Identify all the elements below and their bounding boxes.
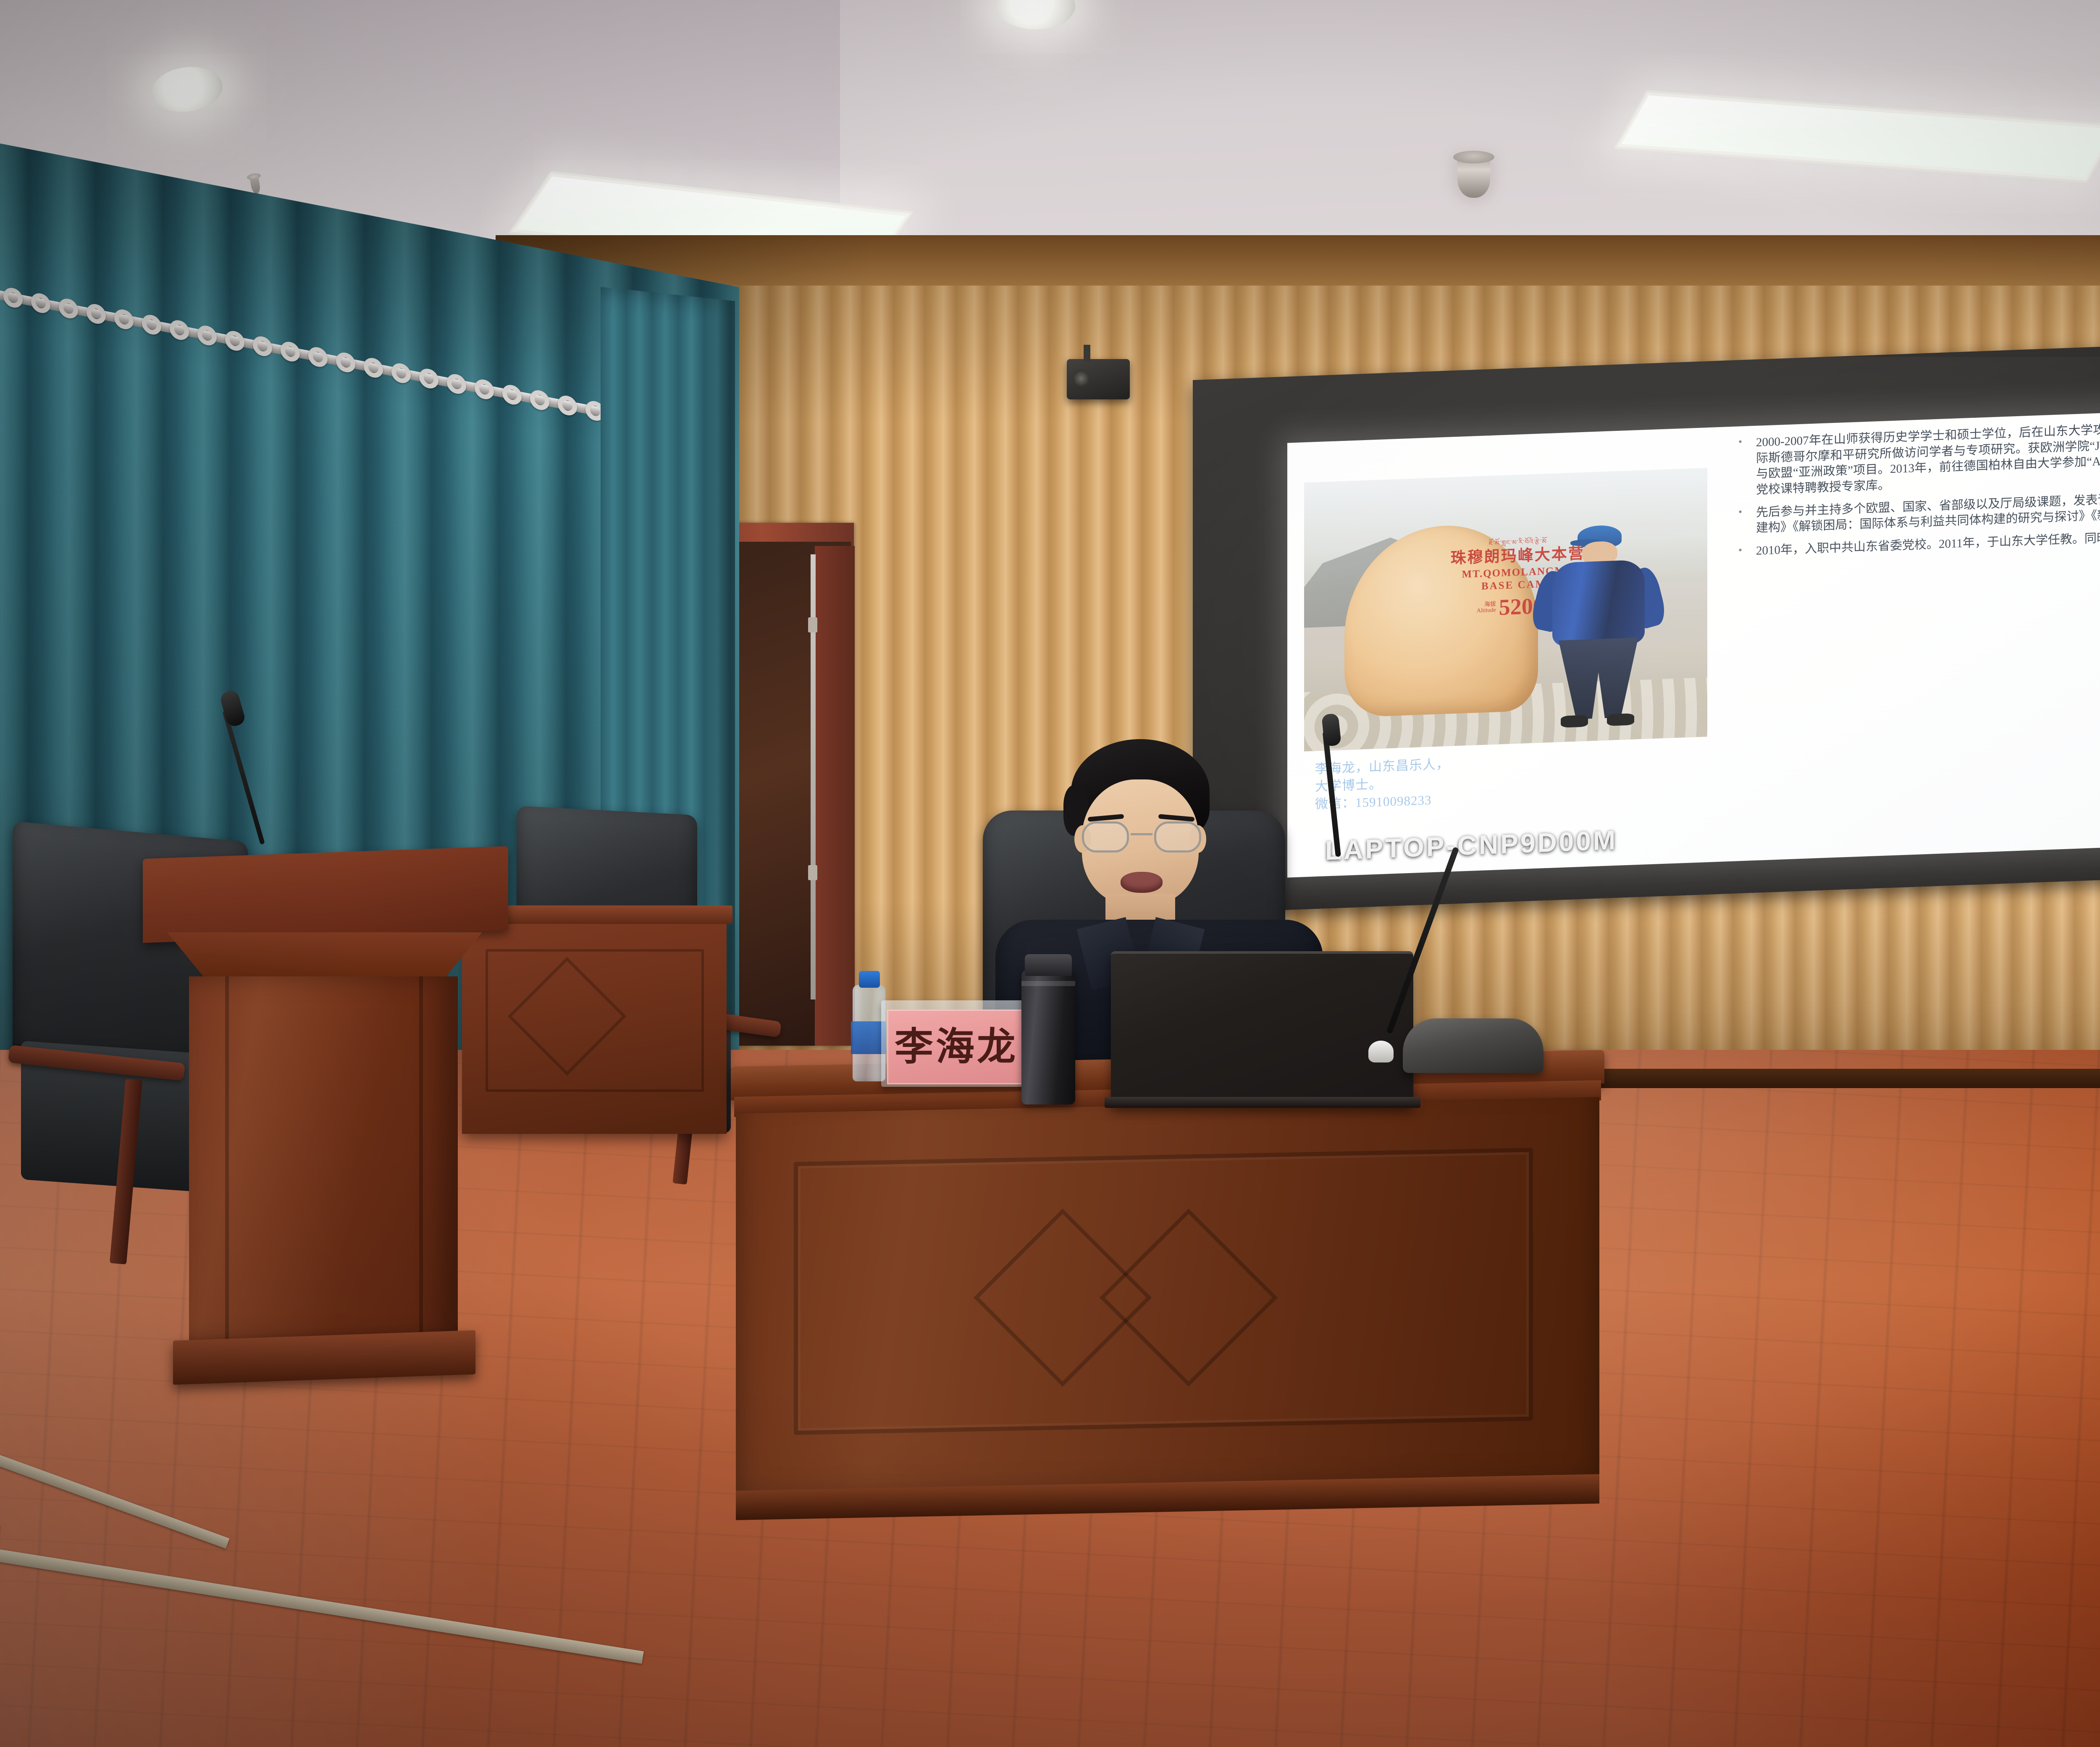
curtain-grommet-icon bbox=[170, 319, 189, 342]
curtain-grommet-icon bbox=[87, 302, 106, 325]
projector-lens-icon bbox=[1073, 370, 1089, 387]
ceiling-projector-icon bbox=[1067, 359, 1130, 399]
thermos-ring bbox=[1021, 981, 1075, 986]
door-hinge-icon bbox=[808, 617, 817, 632]
curtain-grommet-icon bbox=[336, 351, 355, 374]
presentation-slide: ཇོ་མོ་གླང་མ་རི་བོའི་རྩེ་མོ 珠穆朗玛峰大本营 MT.Q… bbox=[1287, 394, 2100, 878]
thermos-lid[interactable] bbox=[1025, 954, 1072, 976]
curtain-grommet-icon bbox=[419, 367, 438, 390]
nameplate-text: 李海龙 bbox=[895, 1028, 1018, 1066]
thermos-flask[interactable] bbox=[1021, 970, 1075, 1104]
curtain-grommet-icon bbox=[364, 356, 383, 379]
door-hinge-icon bbox=[808, 865, 817, 880]
door-leaf[interactable] bbox=[815, 546, 855, 1046]
speakers-lectern bbox=[143, 853, 508, 1382]
altitude-label-en: Altitude bbox=[1477, 607, 1496, 614]
everest-base-camp-photo: ཇོ་མོ་གླང་མ་རི་བོའི་རྩེ་མོ 珠穆朗玛峰大本营 MT.Q… bbox=[1304, 468, 1707, 751]
eyeglass-lens-right bbox=[1154, 821, 1201, 853]
slide-left-column: ཇོ་མོ་གླང་མ་རི་བོའི་རྩེ་མོ 珠穆朗玛峰大本营 MT.Q… bbox=[1298, 445, 1722, 872]
photo-person-jacket bbox=[1552, 560, 1645, 647]
curtain-grommet-icon bbox=[475, 378, 494, 401]
desk-microphone-base[interactable] bbox=[1403, 1018, 1543, 1073]
presentation-desk bbox=[731, 1058, 1604, 1554]
curtain-grommet-icon bbox=[197, 324, 217, 347]
curtain-grommet-icon bbox=[530, 388, 549, 412]
curtain-grommet-icon bbox=[308, 346, 328, 369]
curtain-grommet-icon bbox=[502, 383, 522, 406]
desk-nameplate: 李海龙 bbox=[887, 1010, 1026, 1084]
curtain-grommet-icon bbox=[59, 297, 78, 320]
curtain-grommet-icon bbox=[281, 340, 300, 363]
altitude-label-left: 海拔 Altitude bbox=[1477, 601, 1496, 614]
curtain-grommet-icon bbox=[558, 394, 577, 417]
curtain-grommet-icon bbox=[391, 362, 411, 385]
curtain-grommet-icon bbox=[225, 329, 244, 352]
lectern-groove bbox=[225, 976, 229, 1342]
curtain-grommet-icon bbox=[114, 308, 134, 331]
lectern-groove bbox=[419, 976, 423, 1342]
curtain-grommet-icon bbox=[31, 291, 50, 315]
eyeglass-lens-left bbox=[1082, 821, 1129, 853]
speaker-mouth bbox=[1121, 872, 1163, 893]
slide-bullet-list: 2000-2007年在山师获得历史学学士和硕士学位，后在山东大学攻读博士学位，并… bbox=[1732, 404, 2100, 856]
slide-caption: 李海龙，山东昌乐人， 大学博士。 微信：15910098233 bbox=[1315, 746, 1706, 813]
photo-person-shoe bbox=[1607, 713, 1634, 726]
laptop-base bbox=[1105, 1097, 1420, 1108]
photo-person-legs bbox=[1559, 637, 1638, 720]
laptop-computer[interactable] bbox=[1111, 951, 1413, 1107]
lectern-body bbox=[189, 976, 458, 1342]
water-bottle-cap[interactable] bbox=[859, 971, 880, 988]
lectern-top bbox=[143, 846, 508, 943]
microphone-clip-icon bbox=[1368, 1041, 1394, 1062]
slide-bullet-1: 2000-2007年在山师获得历史学学士和硕士学位，后在山东大学攻读博士学位，并… bbox=[1732, 404, 2100, 499]
smoke-detector-icon bbox=[1457, 157, 1490, 198]
curtain-grommet-icon bbox=[447, 372, 466, 396]
curtain-grommet-icon bbox=[253, 335, 272, 358]
lectern-neck bbox=[167, 932, 482, 978]
photo-person bbox=[1546, 524, 1651, 727]
speaker-eyeglasses-icon bbox=[1081, 821, 1202, 853]
eyeglass-bridge bbox=[1131, 833, 1152, 835]
curtain-grommet-icon bbox=[3, 286, 23, 310]
curtain-grommet-icon bbox=[142, 313, 161, 336]
photo-person-shoe bbox=[1561, 715, 1588, 728]
lecture-hall-photo: ཇོ་མོ་གླང་མ་རི་བོའི་རྩེ་མོ 珠穆朗玛峰大本营 MT.Q… bbox=[0, 0, 2100, 1747]
